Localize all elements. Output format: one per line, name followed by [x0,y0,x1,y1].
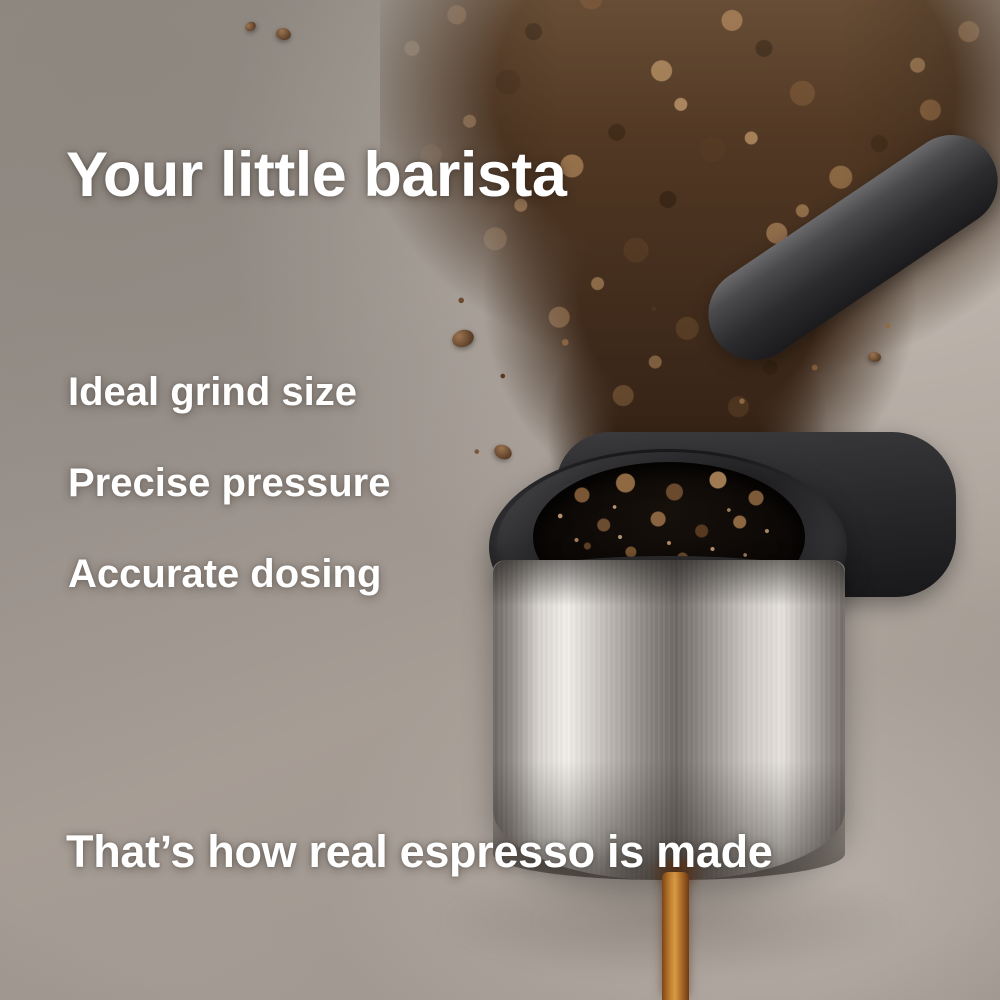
feature-item-grind-size: Ideal grind size [68,372,390,412]
tagline: That’s how real espresso is made [66,826,773,878]
product-banner: Your little barista Ideal grind size Pre… [0,0,1000,1000]
feature-item-pressure: Precise pressure [68,463,390,503]
page-title: Your little barista [66,139,566,211]
feature-item-dosing: Accurate dosing [68,554,390,594]
feature-list: Ideal grind size Precise pressure Accura… [68,372,390,594]
